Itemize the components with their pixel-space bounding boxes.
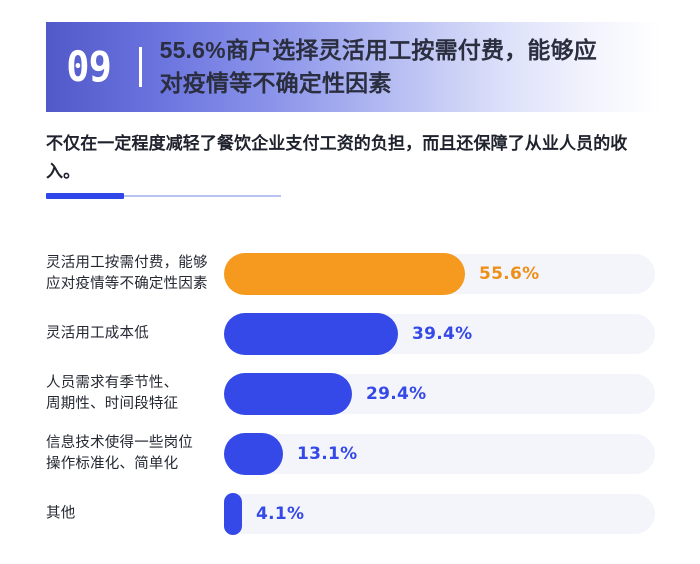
divider-accent — [46, 193, 124, 199]
bar-fill[interactable] — [224, 493, 242, 535]
header-banner: 09 55.6%商户选择灵活用工按需付费，能够应对疫情等不确定性因素 — [46, 22, 660, 112]
bar-value-label: 29.4% — [366, 384, 426, 404]
bar-value-label: 55.6% — [479, 264, 539, 284]
bar-category-line1: 信息技术使得一些岗位 — [46, 435, 193, 451]
bar-fill[interactable] — [224, 313, 398, 355]
bar-category-line1: 人员需求有季节性、 — [46, 375, 178, 391]
bar-category-label: 灵活用工按需付费，能够应对疫情等不确定性因素 — [46, 253, 216, 295]
bar-fill[interactable] — [224, 253, 465, 295]
bar-category-label: 人员需求有季节性、周期性、时间段特征 — [46, 373, 216, 415]
subtitle-text: 不仅在一定程度减轻了餐饮企业支付工资的负担，而且还保障了从业人员的收入。 — [46, 130, 656, 185]
bar-value-label: 13.1% — [297, 444, 357, 464]
chart-row: 人员需求有季节性、周期性、时间段特征 29.4% — [0, 364, 700, 424]
chart-row: 信息技术使得一些岗位操作标准化、简单化 13.1% — [0, 424, 700, 484]
bar-fill[interactable] — [224, 433, 283, 475]
bar-fill[interactable] — [224, 373, 352, 415]
chart-row: 其他 4.1% — [0, 484, 700, 544]
bar-category-line2: 周期性、时间段特征 — [46, 396, 178, 412]
bar-category-label: 灵活用工成本低 — [46, 323, 216, 344]
bar-category-line1: 其他 — [46, 505, 75, 521]
bar-category-line2: 操作标准化、简单化 — [46, 456, 178, 472]
banner-separator — [139, 47, 142, 87]
bar-category-line1: 灵活用工成本低 — [46, 325, 149, 341]
page-title: 55.6%商户选择灵活用工按需付费，能够应对疫情等不确定性因素 — [160, 34, 600, 99]
bar-value-label: 4.1% — [256, 504, 304, 524]
bar-track — [224, 434, 655, 474]
bar-value-label: 39.4% — [412, 324, 472, 344]
section-divider — [46, 193, 281, 199]
chart-row: 灵活用工成本低 39.4% — [0, 304, 700, 364]
chart-row: 灵活用工按需付费，能够应对疫情等不确定性因素 55.6% — [0, 244, 700, 304]
bar-category-label: 其他 — [46, 503, 216, 524]
section-number: 09 — [46, 46, 111, 88]
bar-category-line2: 应对疫情等不确定性因素 — [46, 276, 208, 292]
bar-category-line1: 灵活用工按需付费，能够 — [46, 255, 208, 271]
bar-chart: 灵活用工按需付费，能够应对疫情等不确定性因素 55.6% 灵活用工成本低 39.… — [0, 244, 700, 554]
bar-category-label: 信息技术使得一些岗位操作标准化、简单化 — [46, 433, 216, 475]
